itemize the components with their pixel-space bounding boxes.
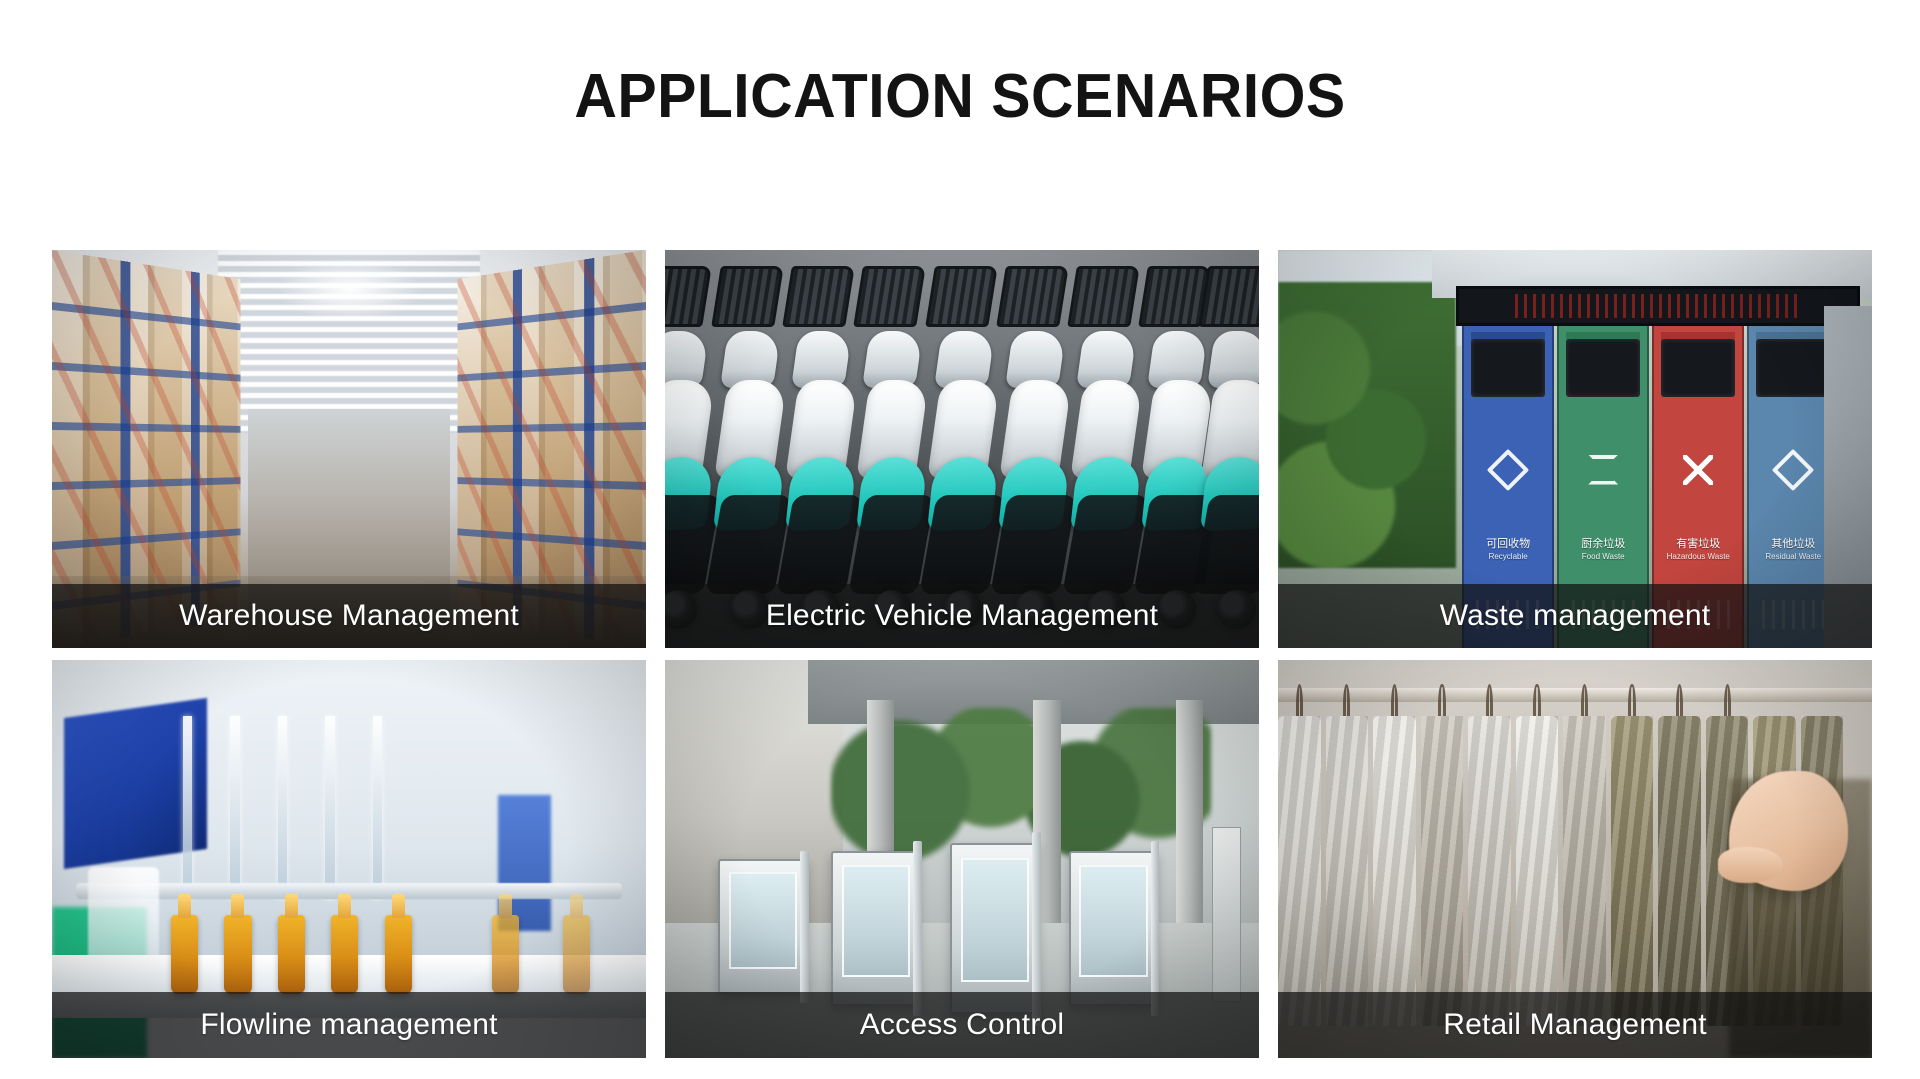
garment-folds [1326, 716, 1369, 1026]
garment [1468, 716, 1511, 1026]
bin-screen-panel [1471, 339, 1545, 397]
card-caption-label: Access Control [860, 1008, 1065, 1042]
filling-nozzle [278, 716, 288, 899]
gate-post [1151, 841, 1160, 1016]
card-caption-bar: Waste management [1278, 584, 1872, 648]
garment [1373, 716, 1416, 1026]
card-caption-label: Warehouse Management [179, 599, 519, 633]
scooter-basket [665, 266, 712, 327]
amber-vial [224, 915, 251, 995]
scooter-basket [782, 266, 854, 327]
card-caption-label: Waste management [1440, 599, 1711, 633]
card-caption-label: Electric Vehicle Management [766, 599, 1158, 633]
bin-screen-panel [1756, 339, 1830, 397]
amber-vial [385, 915, 412, 995]
garment [1421, 716, 1464, 1026]
warehouse-skylight-glow [278, 258, 421, 322]
bin-label: 可回收物Recyclable [1464, 538, 1552, 562]
card-caption-bar: Warehouse Management [52, 584, 646, 648]
bin-screen-panel [1661, 339, 1735, 397]
application-scenarios-page: APPLICATION SCENARIOS [0, 0, 1920, 1079]
garment [1326, 716, 1369, 1026]
card-caption-bar: Access Control [665, 992, 1259, 1058]
filling-nozzle [183, 716, 193, 899]
scenario-card-retail-management[interactable]: Retail Management [1278, 660, 1872, 1058]
scenario-card-flowline-management[interactable]: Flowline management [52, 660, 646, 1058]
gate-glass-barrier [1079, 865, 1147, 977]
card-caption-bar: Electric Vehicle Management [665, 584, 1259, 648]
card-caption-bar: Retail Management [1278, 992, 1872, 1058]
scooter-basket [996, 266, 1068, 327]
garment [1516, 716, 1559, 1026]
scooter-basket [853, 266, 925, 327]
scooter-basket [925, 266, 997, 327]
garment-folds [1658, 716, 1701, 1026]
bin-label-en: Food Waste [1559, 552, 1647, 562]
garment-folds [1611, 716, 1654, 1026]
hazardous-cross-icon [1683, 455, 1713, 485]
bin-label-en: Hazardous Waste [1654, 552, 1742, 562]
garment-folds [1421, 716, 1464, 1026]
speed-gate-turnstile[interactable] [718, 859, 807, 994]
amber-vial [331, 915, 358, 995]
garment [1658, 716, 1701, 1026]
amber-vial [171, 915, 198, 995]
garment-folds [1373, 716, 1416, 1026]
bin-label: 有害垃圾Hazardous Waste [1654, 538, 1742, 562]
scenario-card-access-control[interactable]: Access Control [665, 660, 1259, 1058]
speed-gate-turnstile[interactable] [831, 851, 920, 1006]
garment [1278, 716, 1321, 1026]
filling-nozzle [325, 716, 335, 899]
card-caption-label: Retail Management [1443, 1008, 1707, 1042]
speed-gate-turnstile[interactable] [1069, 851, 1158, 1006]
recycle-arrows-icon [1772, 448, 1814, 490]
bin-label: 厨余垃圾Food Waste [1559, 538, 1647, 562]
scenario-card-warehouse-management[interactable]: Warehouse Management [52, 250, 646, 648]
gate-post [913, 841, 922, 1016]
garment-folds [1563, 716, 1606, 1026]
filling-nozzle [230, 716, 240, 899]
waste-hedge [1278, 282, 1456, 569]
waste-led-display-board [1456, 286, 1860, 326]
scooter-basket [711, 266, 783, 327]
lobby-column [1176, 700, 1203, 947]
gate-glass-barrier [961, 858, 1029, 982]
scenario-card-electric-vehicle-management[interactable]: Electric Vehicle Management [665, 250, 1259, 648]
garment-folds [1516, 716, 1559, 1026]
speed-gate-turnstile[interactable] [950, 843, 1039, 1014]
gate-glass-barrier [842, 865, 910, 977]
scooter [1200, 258, 1259, 640]
clothing-rail [1278, 688, 1872, 702]
led-dot-matrix [1515, 294, 1802, 318]
scooter-basket [1067, 266, 1139, 327]
garment [1563, 716, 1606, 1026]
card-caption-label: Flowline management [200, 1008, 497, 1042]
scooter-basket [1198, 266, 1259, 327]
lobby-info-pillar [1212, 827, 1242, 1002]
filling-nozzle [373, 716, 383, 899]
card-caption-bar: Flowline management [52, 992, 646, 1058]
gate-post [800, 851, 809, 1003]
amber-vial [563, 915, 590, 995]
scenario-grid: Warehouse Management [52, 250, 1872, 1058]
page-title: APPLICATION SCENARIOS [48, 64, 1872, 129]
amber-vial [492, 915, 519, 995]
amber-vial [278, 915, 305, 995]
scenario-card-waste-management[interactable]: 可回收物Recyclable 厨余垃圾Food Waste 有害垃圾Hazard… [1278, 250, 1872, 648]
bin-screen-panel [1566, 339, 1640, 397]
garment-folds [1468, 716, 1511, 1026]
bin-label-en: Recyclable [1464, 552, 1552, 562]
garment [1611, 716, 1654, 1026]
garment-folds [1278, 716, 1321, 1026]
hourglass-icon [1588, 455, 1618, 485]
gate-glass-barrier [729, 872, 797, 969]
shopper-fingers [1718, 847, 1783, 883]
recycle-triangle-icon [1487, 448, 1529, 490]
